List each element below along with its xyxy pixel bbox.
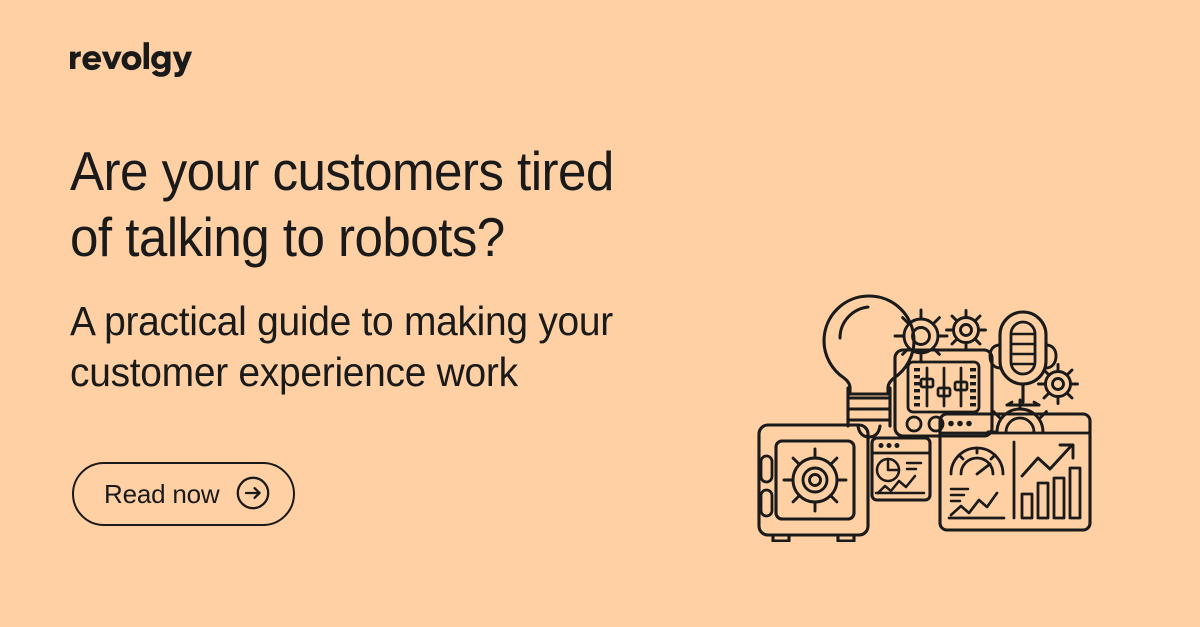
subheading-line-1: A practical guide to making your <box>70 296 735 347</box>
mixer-equalizer-icon <box>895 310 992 436</box>
headline-line-1: Are your customers tired <box>70 138 721 204</box>
ai-customer-experience-illustration <box>748 262 1096 542</box>
revolgy-wordmark-icon <box>70 41 196 77</box>
arrow-right-circle-icon <box>235 475 271 514</box>
gear-icon <box>1039 365 1078 404</box>
lightbulb-icon <box>824 296 914 437</box>
headline-line-2: of talking to robots? <box>70 204 721 270</box>
gear-icon <box>947 311 986 350</box>
gear-icon <box>895 310 947 362</box>
analytics-window-icon <box>872 438 930 500</box>
page-subtitle: A practical guide to making your custome… <box>70 296 735 398</box>
revolgy-logo[interactable] <box>70 41 196 77</box>
page-title: Are your customers tired of talking to r… <box>70 138 721 270</box>
read-now-label: Read now <box>104 481 219 507</box>
safe-vault-icon <box>759 425 868 541</box>
read-now-button[interactable]: Read now <box>72 462 295 526</box>
subheading-line-2: customer experience work <box>70 347 735 398</box>
dashboard-window-icon <box>940 414 1090 530</box>
